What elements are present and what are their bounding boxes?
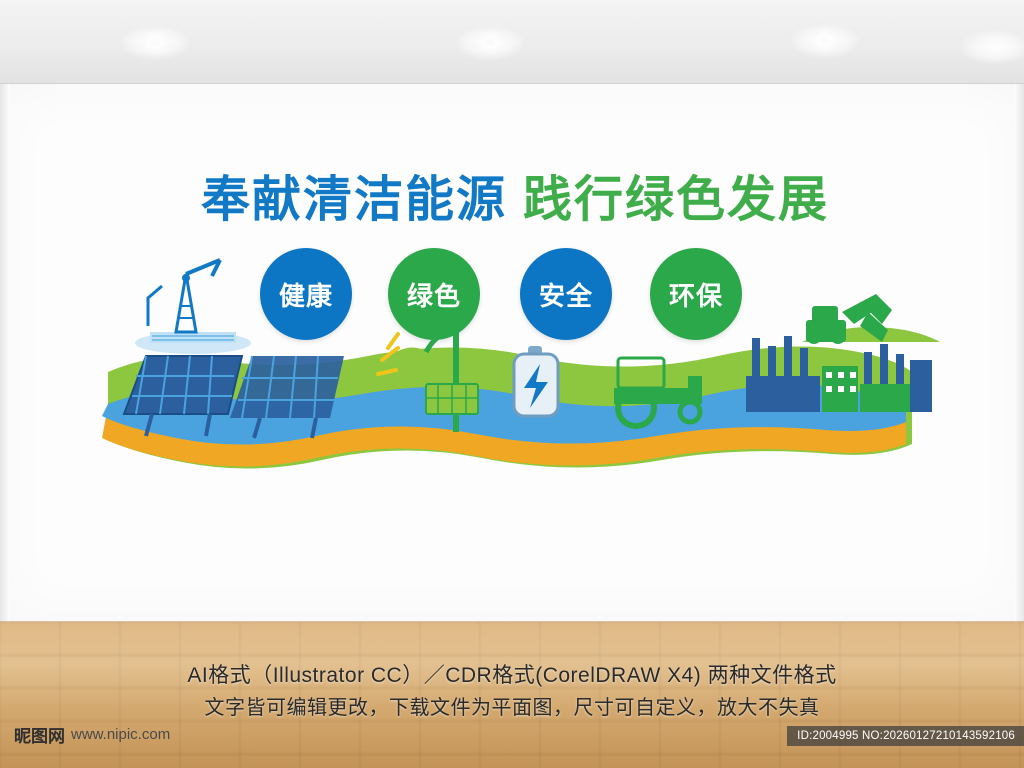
spotlight-icon-3 — [820, 37, 830, 44]
screenshot-root: 奉献清洁能源践行绿色发展 健康 绿色 安全 环保 — [0, 0, 1024, 768]
site-logo: 昵图网 — [14, 722, 65, 747]
wall-left-shading — [0, 84, 10, 622]
spotlight-icon-2 — [485, 39, 495, 46]
wall-mural-artwork: 奉献清洁能源践行绿色发展 健康 绿色 安全 环保 — [90, 160, 940, 490]
illustration-band — [90, 160, 940, 490]
asset-id-badge: ID:2004995 NO:20260127210143592106 — [787, 726, 1024, 746]
watermark: 昵图网 www.nipic.com — [14, 722, 170, 747]
site-url: www.nipic.com — [71, 726, 170, 743]
wall-right-shading — [1014, 84, 1024, 622]
oil-pump-icon — [135, 260, 251, 354]
spotlight-glow-4 — [960, 30, 1024, 64]
caption-line-2: 文字皆可编辑更改，下载文件为平面图，尺寸可自定义，放大不失真 — [0, 693, 1024, 724]
spotlight-icon-1 — [150, 39, 160, 46]
excavator-icon — [802, 294, 940, 344]
caption-block: AI格式（Illustrator CC）／CDR格式(CorelDRAW X4)… — [0, 660, 1024, 724]
caption-line-1: AI格式（Illustrator CC）／CDR格式(CorelDRAW X4)… — [0, 660, 1024, 693]
battery-bolt-icon — [514, 346, 558, 416]
